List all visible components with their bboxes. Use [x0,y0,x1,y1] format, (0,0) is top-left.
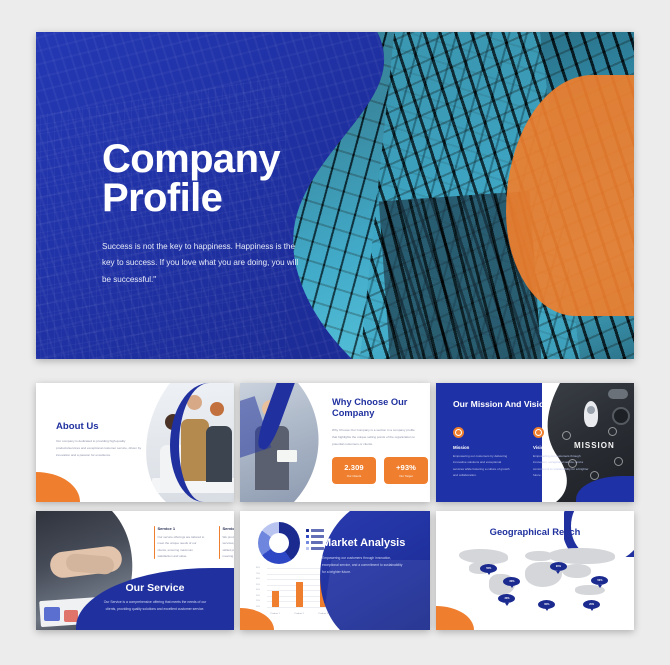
service-2-heading: Service 2 [222,526,234,531]
legend-swatch [306,547,309,550]
legend-swatch [306,541,309,544]
y-axis-tick: 40% [256,589,260,591]
coffee-cup-icon [612,407,630,425]
chart-doc-accent [44,607,60,621]
network-node-icon [614,457,623,466]
rocket-icon [584,401,598,427]
stat-card-target[interactable]: +93% Our Target [384,457,428,484]
mission-column: Mission Empowering our customers by deli… [453,427,511,478]
about-team-photo [136,383,234,502]
hero-title: Company Profile [102,140,392,218]
slide-why-choose[interactable]: Why Choose Our Company Why Choose Our Co… [240,383,430,502]
hero-title-line2: Profile [102,176,222,220]
legend-label [311,529,324,532]
slide-market-analysis[interactable]: 10%20%30%40%50%60%70%80% Product 1Produc… [240,511,430,630]
slide-our-service[interactable]: Service 1 Our service offerings are tail… [36,511,234,630]
service-1-heading: Service 1 [158,526,207,531]
bar [296,582,303,607]
map-marker[interactable]: 20% [583,600,600,609]
donut-chart [258,522,300,564]
why-choose-title: Why Choose Our Company [332,397,420,420]
mission-heading: Mission [453,445,511,450]
slide-deck: Company Profile Success is not the key t… [0,0,670,665]
geographical-reach-title: Geographical Reach [436,526,634,537]
vision-heading: Vision [533,445,591,450]
y-axis-tick: 60% [256,578,260,580]
orange-corner-shape [36,472,80,502]
y-axis-tick: 70% [256,573,260,575]
service-columns: Service 1 Our service offerings are tail… [154,526,234,559]
stat-value: +93% [396,463,416,472]
why-choose-photo [240,383,324,502]
y-axis-tick: 10% [256,606,260,608]
x-axis-label: Product 3 [319,613,328,615]
y-axis-tick: 30% [256,595,260,597]
business-card [277,450,297,462]
world-map: 50%80%30%90%60%50%20% [452,545,618,617]
mission-vision-columns: Mission Empowering our customers by deli… [453,427,591,478]
network-node-icon [608,427,617,436]
stat-value: 2.309 [344,463,364,472]
market-analysis-text-block: Market Analysis Empowering our customers… [322,537,420,576]
about-text-block: About Us Our company is dedicated to pro… [56,421,142,459]
stat-label: Our Target [399,474,413,478]
target-icon [453,427,464,438]
map-marker[interactable]: 30% [498,594,515,603]
stat-label: Our Clients [347,474,361,478]
blue-arc-accent [170,383,234,502]
service-2-body: We provide high-quality and reliable ser… [222,534,234,559]
map-marker[interactable]: 50% [591,576,608,585]
slide-hero[interactable]: Company Profile Success is not the key t… [36,32,634,359]
x-axis-label: Product 2 [295,613,304,615]
slide-mission-vision[interactable]: MISSION Our Mission And Vision Mission E… [436,383,634,502]
our-service-title: Our Service [76,568,234,594]
legend-swatch [306,529,309,532]
legend-swatch [306,535,309,538]
mission-body: Empowering our customers by delivering i… [453,453,511,478]
x-axis-label: Product 1 [271,613,280,615]
our-service-body: Our Service is a comprehensive offering … [103,599,207,613]
target-icon [533,427,544,438]
service-item-2: Service 2 We provide high-quality and re… [219,526,234,559]
map-marker[interactable]: 80% [503,577,520,586]
market-analysis-title: Market Analysis [322,537,420,549]
hero-text-block: Company Profile Success is not the key t… [102,140,392,288]
service-1-body: Our service offerings are tailored to me… [158,534,207,559]
why-choose-body: Why Choose Our Company is a section in a… [332,427,420,448]
y-axis-tick: 80% [256,567,260,569]
market-analysis-body: Empowering our customers through innovat… [322,555,406,576]
about-body: Our company is dedicated to providing hi… [56,438,142,459]
glasses-icon [608,389,628,399]
map-marker[interactable]: 60% [538,600,555,609]
about-title: About Us [56,421,142,432]
y-axis-tick: 50% [256,584,260,586]
y-axis-tick: 20% [256,600,260,602]
legend-item [306,529,324,532]
why-choose-text-block: Why Choose Our Company Why Choose Our Co… [332,397,420,448]
our-service-panel: Our Service Our Service is a comprehensi… [76,568,234,630]
stat-card-clients[interactable]: 2.309 Our Clients [332,457,376,484]
mission-vision-title: Our Mission And Vision [453,399,549,409]
hero-title-line1: Company [102,137,280,181]
vision-body: Empowering our customers through innovat… [533,453,591,478]
bar [272,591,279,607]
orange-bar-accent [154,526,155,559]
slide-geographical-reach[interactable]: Geographical Reach 50%80%30%90%60%50%20% [436,511,634,630]
slide-about-us[interactable]: About Us Our company is dedicated to pro… [36,383,234,502]
stat-card-group: 2.309 Our Clients +93% Our Target [332,457,428,484]
service-item-1: Service 1 Our service offerings are tail… [154,526,206,559]
vision-column: Vision Empowering our customers through … [533,427,591,478]
hero-subtitle: Success is not the key to happiness. Hap… [102,239,308,289]
map-marker[interactable]: 50% [480,564,497,573]
